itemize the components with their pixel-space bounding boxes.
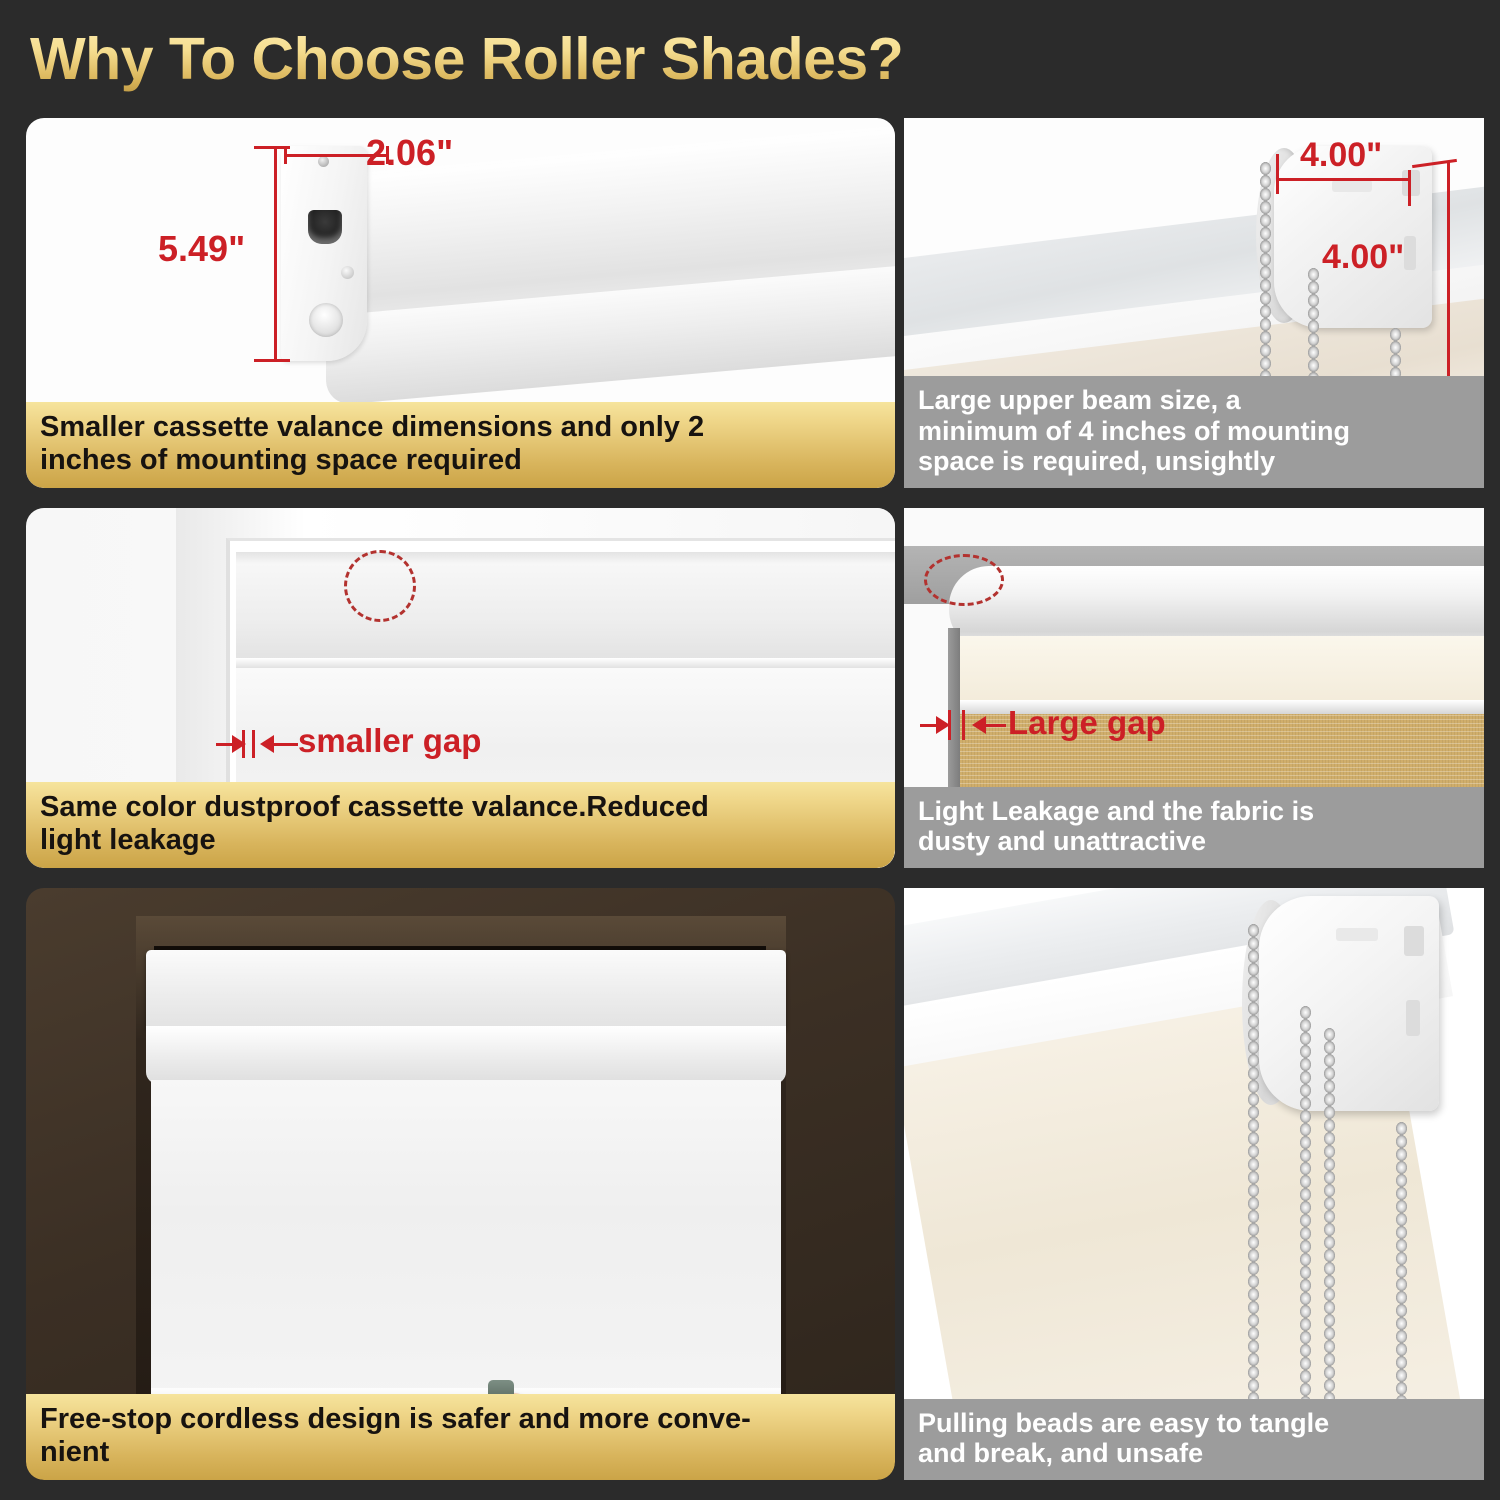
bead-chain-rear — [1396, 1122, 1407, 1442]
bracket-notch-bottom-icon — [1406, 1000, 1420, 1036]
beam-width-dimension-line — [1276, 178, 1411, 181]
beam-width-tick-left — [1276, 154, 1279, 194]
panel-cordless-design: Free-stop cordless design is safer and m… — [26, 888, 895, 1480]
beam-height-dimension-line — [1447, 162, 1450, 392]
panel-cassette-dimensions: 2.06" 5.49" Smaller cassette valance dim… — [26, 118, 895, 488]
end-cap-slot-icon — [308, 210, 342, 244]
infographic-page: Why To Choose Roller Shades? 2.06" 5.49"… — [0, 0, 1500, 1500]
height-dimension-tick-bottom — [254, 359, 290, 362]
panel-pulling-beads: Pulling beads are easy to tangle and bre… — [904, 888, 1484, 1480]
beam-width-dimension-label: 4.00" — [1300, 136, 1382, 175]
beam-width-tick-right — [1408, 170, 1411, 206]
bracket-slot-icon — [1332, 180, 1372, 192]
bracket-notch-bottom-icon — [1404, 236, 1416, 270]
highlight-circle-icon — [344, 550, 416, 622]
caption-large-gap: Light Leakage and the fabric is dusty an… — [904, 787, 1484, 868]
caption-line-1: Same color dustproof cassette valance.Re… — [40, 791, 881, 823]
gap-arrow-left-line — [920, 724, 942, 727]
cassette-valance — [146, 950, 786, 1030]
end-cap-top-screw-icon — [318, 156, 329, 167]
cassette-valance-lower — [146, 1026, 786, 1084]
height-dimension-tick-top — [254, 146, 290, 149]
bracket-notch-top-icon — [1402, 170, 1420, 196]
caption-large-upper-beam: Large upper beam size, a minimum of 4 in… — [904, 376, 1484, 488]
shade-fabric — [151, 1080, 781, 1410]
caption-cordless-design: Free-stop cordless design is safer and m… — [26, 1394, 895, 1480]
cream-fabric-band — [956, 636, 1484, 710]
gap-callout-label: smaller gap — [298, 722, 481, 760]
panel-6-artwork — [904, 888, 1484, 1480]
beam-height-dimension-label: 4.00" — [1322, 238, 1404, 277]
gap-marker-right — [962, 710, 965, 740]
bracket-notch-top-icon — [1404, 926, 1424, 956]
gap-arrow-right-line — [976, 724, 1006, 727]
caption-line-3: space is required, unsightly — [918, 446, 1470, 476]
bracket-slot-icon — [1336, 928, 1378, 941]
panel-large-upper-beam: 4.00" 4.00" Large upper beam size, a min… — [904, 118, 1484, 488]
caption-smaller-gap: Same color dustproof cassette valance.Re… — [26, 782, 895, 868]
caption-line-1: Free-stop cordless design is safer and m… — [40, 1403, 881, 1435]
gap-arrow-right-line — [264, 743, 298, 746]
gap-marker-left — [242, 730, 245, 758]
gap-marker-right — [252, 730, 255, 758]
height-dimension-label: 5.49" — [158, 228, 245, 270]
caption-pulling-beads: Pulling beads are easy to tangle and bre… — [904, 1399, 1484, 1480]
panel-large-gap: Large gap Light Leakage and the fabric i… — [904, 508, 1484, 868]
gap-arrow-left-line — [216, 743, 238, 746]
width-dimension-label: 2.06" — [366, 132, 453, 174]
caption-cassette-dimensions: Smaller cassette valance dimensions and … — [26, 402, 895, 488]
page-title: Why To Choose Roller Shades? — [30, 20, 1080, 98]
caption-line-2: dusty and unattractive — [918, 826, 1470, 856]
caption-line-1: Smaller cassette valance dimensions and … — [40, 411, 881, 443]
panel-5-artwork — [26, 888, 895, 1480]
bead-chain-mid — [1300, 1006, 1311, 1456]
caption-line-2: inches of mounting space required — [40, 444, 881, 476]
bead-chain-mid-2 — [1324, 1028, 1335, 1458]
end-cap-wheel-icon — [309, 303, 343, 337]
caption-line-2: nient — [40, 1436, 881, 1468]
caption-line-1: Light Leakage and the fabric is — [918, 796, 1470, 826]
end-cap-screw-icon — [341, 266, 354, 279]
caption-line-1: Large upper beam size, a — [918, 385, 1470, 415]
bead-chain-front — [1248, 924, 1259, 1454]
caption-line-2: and break, and unsafe — [918, 1438, 1470, 1468]
caption-line-1: Pulling beads are easy to tangle — [918, 1408, 1470, 1438]
caption-line-2: light leakage — [40, 824, 881, 856]
caption-line-2: minimum of 4 inches of mounting — [918, 416, 1470, 446]
gap-marker-left — [948, 710, 951, 740]
gap-callout-label: Large gap — [1008, 704, 1166, 742]
height-dimension-line — [274, 146, 277, 362]
panel-smaller-gap: smaller gap Same color dustproof cassett… — [26, 508, 895, 868]
cassette-valance — [236, 552, 895, 670]
highlight-circle-icon — [924, 554, 1004, 606]
